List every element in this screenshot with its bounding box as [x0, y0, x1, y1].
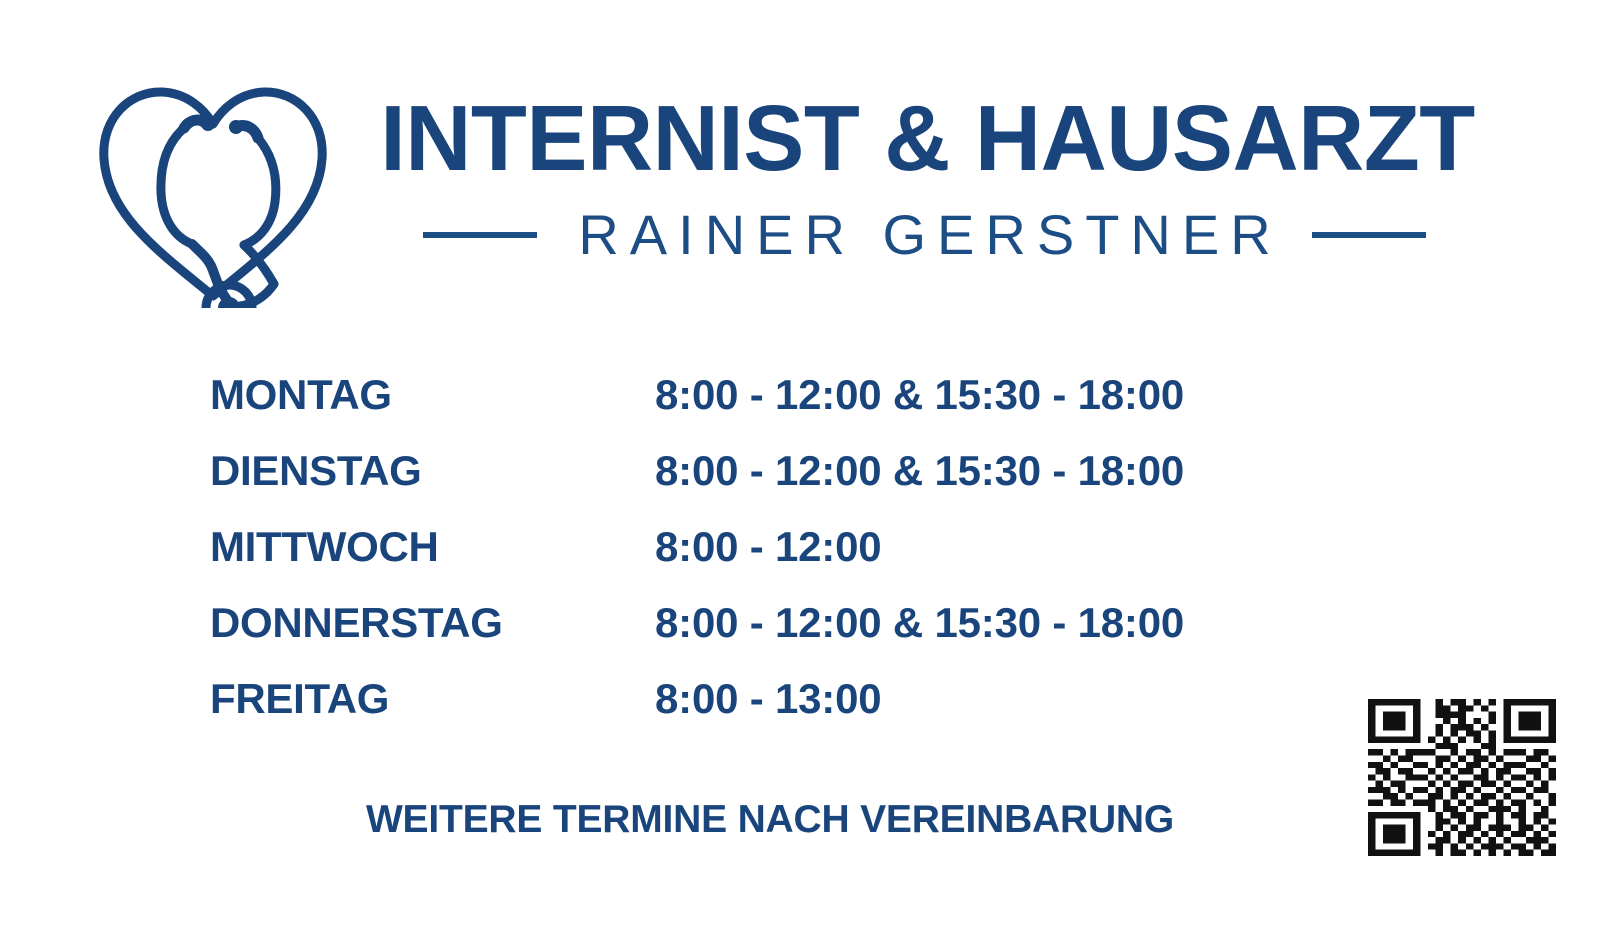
time-value: 8:00 - 12:00 & 15:30 - 18:00 [655, 450, 1330, 492]
appointment-note: WEITERE TERMINE NACH VEREINBARUNG [210, 800, 1330, 839]
brand-header: INTERNIST & HAUSARZT RAINER GERSTNER [0, 0, 1600, 330]
poster-canvas: INTERNIST & HAUSARZT RAINER GERSTNER MON… [0, 0, 1600, 935]
rule-left-icon [423, 232, 537, 238]
day-label: MITTWOCH [210, 526, 655, 568]
time-value: 8:00 - 12:00 & 15:30 - 18:00 [655, 602, 1330, 644]
rule-right-icon [1312, 232, 1426, 238]
table-row: MONTAG 8:00 - 12:00 & 15:30 - 18:00 [210, 374, 1330, 450]
page-title: INTERNIST & HAUSARZT [380, 92, 1468, 185]
heart-stethoscope-icon [88, 58, 338, 308]
brand-subtitle-row: RAINER GERSTNER [372, 207, 1477, 263]
qr-code-icon[interactable] [1368, 699, 1556, 856]
brand-text-block: INTERNIST & HAUSARZT RAINER GERSTNER [372, 92, 1477, 292]
time-value: 8:00 - 12:00 [655, 526, 1330, 568]
day-label: MONTAG [210, 374, 655, 416]
opening-hours-table: MONTAG 8:00 - 12:00 & 15:30 - 18:00 DIEN… [210, 374, 1330, 754]
day-label: DONNERSTAG [210, 602, 655, 644]
table-row: DONNERSTAG 8:00 - 12:00 & 15:30 - 18:00 [210, 602, 1330, 678]
table-row: MITTWOCH 8:00 - 12:00 [210, 526, 1330, 602]
time-value: 8:00 - 13:00 [655, 678, 1330, 720]
table-row: DIENSTAG 8:00 - 12:00 & 15:30 - 18:00 [210, 450, 1330, 526]
day-label: DIENSTAG [210, 450, 655, 492]
doctor-name: RAINER GERSTNER [567, 207, 1281, 263]
day-label: FREITAG [210, 678, 655, 720]
time-value: 8:00 - 12:00 & 15:30 - 18:00 [655, 374, 1330, 416]
table-row: FREITAG 8:00 - 13:00 [210, 678, 1330, 754]
